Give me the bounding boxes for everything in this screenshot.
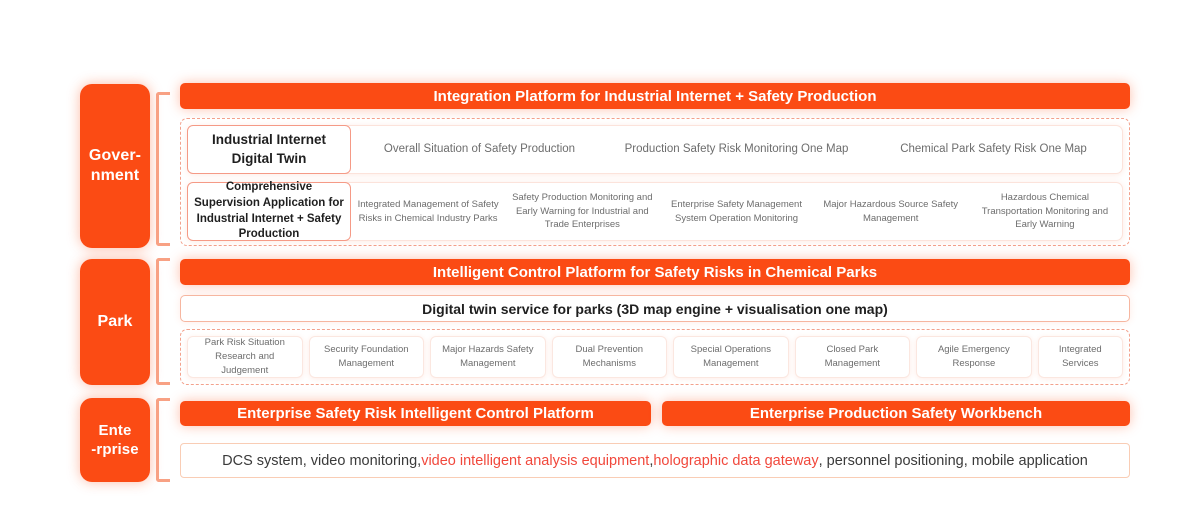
government-row-2-cell[interactable]: Safety Production Monitoring and Early W… [505,191,659,232]
park-capability-card[interactable]: Park Risk Situation Research and Judgeme… [187,336,303,378]
park-capability-card[interactable]: Integrated Services [1038,336,1123,378]
tier-label-park[interactable]: Park [80,259,150,385]
tier-label-enterprise-line1: Ente [91,421,138,440]
architecture-diagram: Gover- nment Park Ente -rprise Integrati… [0,0,1200,529]
bracket-government [156,92,170,246]
tier-label-enterprise[interactable]: Ente -rprise [80,398,150,482]
government-row-2-cell[interactable]: Major Hazardous Source Safety Management [814,198,968,226]
government-row-2-cell[interactable]: Integrated Management of Safety Risks in… [351,198,505,226]
government-content-container: Industrial Internet Digital Twin Overall… [180,118,1130,246]
government-row-1-cell[interactable]: Overall Situation of Safety Production [351,141,608,158]
park-digital-twin-bar[interactable]: Digital twin service for parks (3D map e… [180,295,1130,322]
government-row-1-cell[interactable]: Production Safety Risk Monitoring One Ma… [608,141,865,158]
enterprise-workbench-bar[interactable]: Enterprise Production Safety Workbench [662,401,1130,426]
park-capability-card[interactable]: Special Operations Management [673,336,789,378]
park-capability-card[interactable]: Security Foundation Management [309,336,425,378]
government-row-2-cell[interactable]: Enterprise Safety Management System Oper… [659,198,813,226]
park-content-container: Park Risk Situation Research and Judgeme… [180,329,1130,385]
enterprise-control-platform-bar[interactable]: Enterprise Safety Risk Intelligent Contr… [180,401,651,426]
government-row-2: Comprehensive Supervision Application fo… [187,182,1123,241]
government-row-2-cells: Integrated Management of Safety Risks in… [351,183,1122,240]
government-row-1-highlight-card[interactable]: Industrial Internet Digital Twin [187,125,351,174]
enterprise-strip-accent-1: video intelligent analysis equipment [421,453,649,469]
government-row-1: Industrial Internet Digital Twin Overall… [187,125,1123,174]
government-row-2-highlight-card[interactable]: Comprehensive Supervision Application fo… [187,182,351,241]
government-row-2-cell[interactable]: Hazardous Chemical Transportation Monito… [968,191,1122,232]
bracket-park [156,258,170,385]
government-platform-title-bar[interactable]: Integration Platform for Industrial Inte… [180,83,1130,109]
tier-label-park-line1: Park [97,312,132,332]
enterprise-device-strip: DCS system, video monitoring, video inte… [180,443,1130,478]
tier-label-enterprise-line2: -rprise [91,440,138,459]
government-row-1-cells: Overall Situation of Safety Production P… [351,126,1122,173]
park-capability-list: Park Risk Situation Research and Judgeme… [187,336,1123,378]
park-capability-card[interactable]: Agile Emergency Response [916,336,1032,378]
park-capability-card[interactable]: Dual Prevention Mechanisms [552,336,668,378]
park-capability-card[interactable]: Major Hazards Safety Management [430,336,546,378]
tier-label-government-line2: nment [89,166,141,186]
park-capability-card[interactable]: Closed Park Management [795,336,911,378]
tier-label-government-line1: Gover- [89,146,141,166]
enterprise-strip-segment-3: , personnel positioning, mobile applicat… [819,453,1088,469]
bracket-enterprise [156,398,170,482]
tier-label-government[interactable]: Gover- nment [80,84,150,248]
enterprise-strip-segment-1: DCS system, video monitoring, [222,453,421,469]
park-platform-title-bar[interactable]: Intelligent Control Platform for Safety … [180,259,1130,285]
government-row-1-cell[interactable]: Chemical Park Safety Risk One Map [865,141,1122,158]
enterprise-strip-accent-2: holographic data gateway [653,453,818,469]
